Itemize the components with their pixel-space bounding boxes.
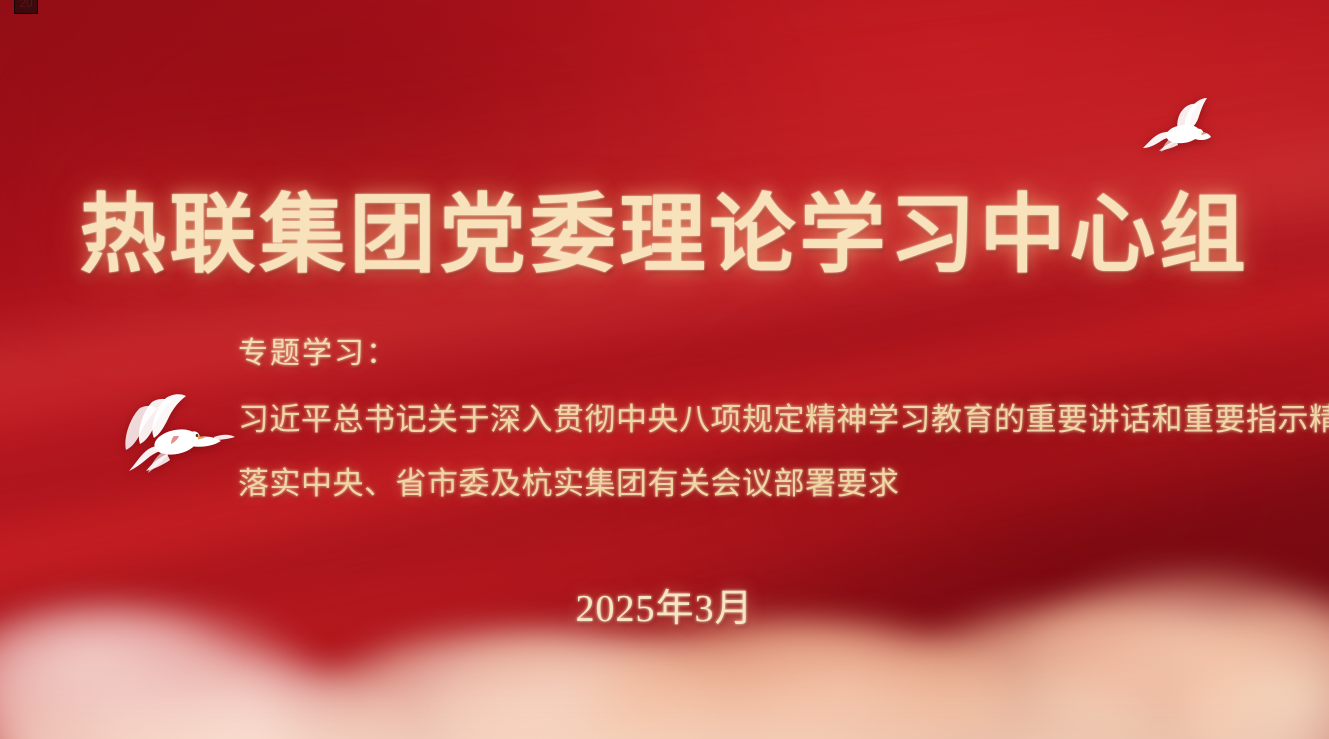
slide-number-badge: 20 <box>14 0 38 14</box>
subhead-label: 专题学习： <box>238 334 1308 373</box>
dove-icon-top-right <box>1137 96 1229 168</box>
dove-icon-left <box>118 392 236 496</box>
page-title: 热联集团党委理论学习中心组 <box>0 164 1329 289</box>
body-line-2: 落实中央、省市委及杭实集团有关会议部署要求 <box>238 463 1308 505</box>
body-text-block: 专题学习： 习近平总书记关于深入贯彻中央八项规定精神学习教育的重要讲话和重要指示… <box>238 334 1308 505</box>
date-label: 2025年3月 <box>0 577 1329 632</box>
slide-canvas: 20 热联集团党委理论学习中心组 专题学习： 习近平总书记关于深入贯彻中央八项规… <box>0 0 1329 739</box>
body-line-1: 习近平总书记关于深入贯彻中央八项规定精神学习教育的重要讲话和重要指示精神 <box>238 399 1308 441</box>
cloud-shape <box>90 659 420 739</box>
